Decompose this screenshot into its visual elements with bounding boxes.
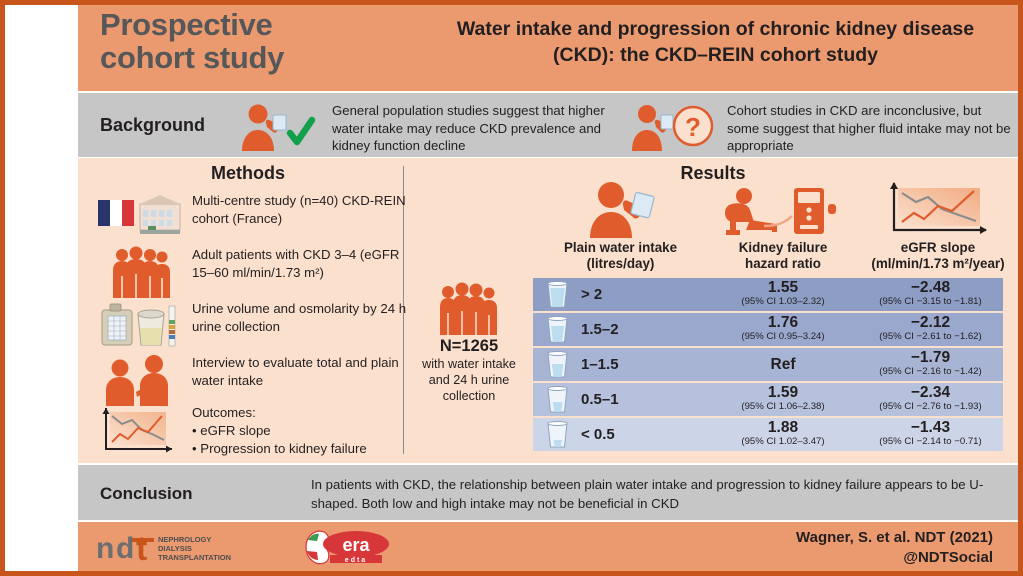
results-column-2-header: Kidney failure hazard ratio — [708, 180, 858, 276]
hazard-ratio-value: 1.76 — [708, 314, 858, 332]
background-item-2: ? Cohort studies in CKD are inconclusive… — [623, 93, 1013, 157]
hazard-ratio-value: 1.55 — [708, 279, 858, 297]
hazard-ratio-ci: (95% CI 1.02–3.47) — [708, 437, 858, 448]
intake-value: 1.5–2 — [581, 313, 619, 346]
cell-intake: < 0.5 — [533, 418, 708, 451]
chart-slope-icon — [96, 404, 186, 456]
egfr-slope-value: −2.34 — [858, 384, 1003, 402]
cell-intake: 0.5–1 — [533, 383, 708, 416]
results-column-2-line2: hazard ratio — [708, 256, 858, 272]
egfr-slope-ci: (95% CI −2.61 to −1.62) — [858, 332, 1003, 343]
egfr-slope-value: −1.79 — [858, 349, 1003, 367]
background-label: Background — [100, 115, 205, 136]
page-title: Water intake and progression of chronic … — [428, 17, 1003, 68]
results-column-3-header: eGFR slope (ml/min/1.73 m²/year) — [858, 180, 1018, 276]
intake-value: 1–1.5 — [581, 348, 619, 381]
table-row: < 0.51.88(95% CI 1.02–3.47)−1.43(95% CI … — [533, 418, 1003, 451]
study-type-heading: Prospective cohort study — [100, 9, 420, 75]
cell-egfr-slope: −1.43(95% CI −2.14 to −0.71) — [858, 418, 1003, 448]
era-edta-logo: era edta — [296, 527, 396, 567]
svg-text:d: d — [116, 532, 134, 565]
interview-icon — [96, 354, 186, 406]
hazard-ratio-value: 1.59 — [708, 384, 858, 402]
methods-item-3-text: Urine volume and osmolarity by 24 h urin… — [192, 300, 407, 336]
svg-text:NEPHROLOGY: NEPHROLOGY — [158, 535, 211, 544]
citation-reference: Wagner, S. et al. NDT (2021) — [796, 528, 993, 548]
dialysis-patient-icon — [708, 180, 858, 238]
cell-hazard-ratio: Ref — [708, 348, 858, 381]
background-item-2-text: Cohort studies in CKD are inconclusive, … — [727, 102, 1012, 155]
background-item-1: General population studies suggest that … — [228, 93, 623, 157]
background-item-1-text: General population studies suggest that … — [332, 102, 614, 155]
water-glass-icon — [545, 316, 570, 344]
cohort-description: with water intake and 24 h urine collect… — [410, 357, 528, 405]
egfr-slope-ci: (95% CI −2.14 to −0.71) — [858, 437, 1003, 448]
cell-intake: > 2 — [533, 278, 708, 311]
citation-handle: @NDTSocial — [796, 548, 993, 568]
svg-text:t: t — [136, 530, 147, 568]
methods-item-2-text: Adult patients with CKD 3–4 (eGFR 15–60 … — [192, 246, 407, 282]
svg-text:n: n — [96, 532, 114, 565]
study-type-line-1: Prospective — [100, 9, 420, 42]
france-flag-hospital-icon — [96, 192, 186, 244]
results-column-2-label: Kidney failure hazard ratio — [708, 240, 858, 272]
egfr-slope-ci: (95% CI −2.16 to −1.42) — [858, 367, 1003, 378]
intake-value: < 0.5 — [581, 418, 615, 451]
person-drinking-question-icon: ? — [623, 101, 723, 151]
conclusion-label: Conclusion — [100, 484, 193, 504]
water-glass-icon — [545, 386, 570, 414]
cell-hazard-ratio: 1.59(95% CI 1.06–2.38) — [708, 383, 858, 413]
hazard-ratio-ci: (95% CI 0.95–3.24) — [708, 332, 858, 343]
egfr-slope-value: −2.12 — [858, 314, 1003, 332]
egfr-slope-value: −2.48 — [858, 279, 1003, 297]
intake-value: 0.5–1 — [581, 383, 619, 416]
chart-slope-icon — [858, 180, 1018, 238]
cohort-n-label: N=1265 — [410, 337, 528, 356]
results-column-3-label: eGFR slope (ml/min/1.73 m²/year) — [858, 240, 1018, 272]
hazard-ratio-ci: (95% CI 1.03–2.32) — [708, 297, 858, 308]
conclusion-section: Conclusion In patients with CKD, the rel… — [78, 465, 1018, 520]
methods-item-5-bullet-2: • Progression to kidney failure — [192, 440, 407, 458]
hazard-ratio-ci: (95% CI 1.06–2.38) — [708, 402, 858, 413]
cell-egfr-slope: −1.79(95% CI −2.16 to −1.42) — [858, 348, 1003, 378]
svg-text:era: era — [342, 535, 370, 555]
group-people-icon — [96, 246, 186, 298]
cell-intake: 1–1.5 — [533, 348, 708, 381]
methods-item-5-text: Outcomes: • eGFR slope • Progression to … — [192, 404, 407, 457]
group-people-icon — [436, 283, 502, 335]
methods-item-5-heading: Outcomes: — [192, 405, 256, 420]
results-table: > 21.55(95% CI 1.03–2.32)−2.48(95% CI −3… — [533, 278, 1003, 453]
table-row: 0.5–11.59(95% CI 1.06–2.38)−2.34(95% CI … — [533, 383, 1003, 416]
person-drinking-check-icon — [228, 101, 328, 151]
cohort-size-block: N=1265 with water intake and 24 h urine … — [410, 283, 528, 405]
svg-text:?: ? — [685, 112, 701, 142]
conclusion-text: In patients with CKD, the relationship b… — [311, 475, 1011, 513]
cell-hazard-ratio: 1.88(95% CI 1.02–3.47) — [708, 418, 858, 448]
egfr-slope-ci: (95% CI −2.76 to −1.93) — [858, 402, 1003, 413]
svg-text:edta: edta — [345, 557, 367, 564]
results-column-2-line1: Kidney failure — [708, 240, 858, 256]
egfr-slope-value: −1.43 — [858, 419, 1003, 437]
water-glass-icon — [545, 281, 570, 309]
methods-title: Methods — [98, 163, 398, 184]
results-column-1-label: Plain water intake (litres/day) — [533, 240, 708, 272]
person-drinking-icon — [533, 180, 708, 238]
table-row: 1–1.5Ref−1.79(95% CI −2.16 to −1.42) — [533, 348, 1003, 381]
water-glass-icon — [545, 421, 570, 449]
cell-hazard-ratio: 1.55(95% CI 1.03–2.32) — [708, 278, 858, 308]
hazard-ratio-value: Ref — [708, 348, 858, 381]
svg-text:TRANSPLANTATION: TRANSPLANTATION — [158, 553, 231, 562]
infographic-poster: Prospective cohort study Water intake an… — [0, 0, 1023, 576]
cell-intake: 1.5–2 — [533, 313, 708, 346]
results-column-3-line2: (ml/min/1.73 m²/year) — [858, 256, 1018, 272]
results-column-1-line2: (litres/day) — [533, 256, 708, 272]
footer-band: n d t NEPHROLOGY DIALYSIS TRANSPLANTATIO… — [78, 522, 1018, 571]
svg-text:DIALYSIS: DIALYSIS — [158, 544, 192, 553]
table-row: > 21.55(95% CI 1.03–2.32)−2.48(95% CI −3… — [533, 278, 1003, 311]
methods-item-1-text: Multi-centre study (n=40) CKD-REIN cohor… — [192, 192, 407, 228]
cell-hazard-ratio: 1.76(95% CI 0.95–3.24) — [708, 313, 858, 343]
background-section: Background General population studies su… — [78, 93, 1018, 157]
table-row: 1.5–21.76(95% CI 0.95–3.24)−2.12(95% CI … — [533, 313, 1003, 346]
ndt-logo: n d t NEPHROLOGY DIALYSIS TRANSPLANTATIO… — [96, 530, 276, 564]
citation: Wagner, S. et al. NDT (2021) @NDTSocial — [796, 528, 993, 569]
cell-egfr-slope: −2.48(95% CI −3.15 to −1.81) — [858, 278, 1003, 308]
study-type-line-2: cohort study — [100, 42, 420, 75]
urine-container-icon — [96, 300, 186, 352]
intake-value: > 2 — [581, 278, 602, 311]
cell-egfr-slope: −2.34(95% CI −2.76 to −1.93) — [858, 383, 1003, 413]
main-panel: Methods Results — [78, 158, 1018, 463]
hazard-ratio-value: 1.88 — [708, 419, 858, 437]
cell-egfr-slope: −2.12(95% CI −2.61 to −1.62) — [858, 313, 1003, 343]
results-column-1-header: Plain water intake (litres/day) — [533, 180, 708, 276]
results-column-3-line1: eGFR slope — [858, 240, 1018, 256]
egfr-slope-ci: (95% CI −3.15 to −1.81) — [858, 297, 1003, 308]
methods-item-4-text: Interview to evaluate total and plain wa… — [192, 354, 407, 390]
methods-item-5-bullet-1: • eGFR slope — [192, 422, 407, 440]
header-band: Prospective cohort study Water intake an… — [78, 5, 1018, 91]
water-glass-icon — [545, 351, 570, 379]
results-column-1-line1: Plain water intake — [533, 240, 708, 256]
